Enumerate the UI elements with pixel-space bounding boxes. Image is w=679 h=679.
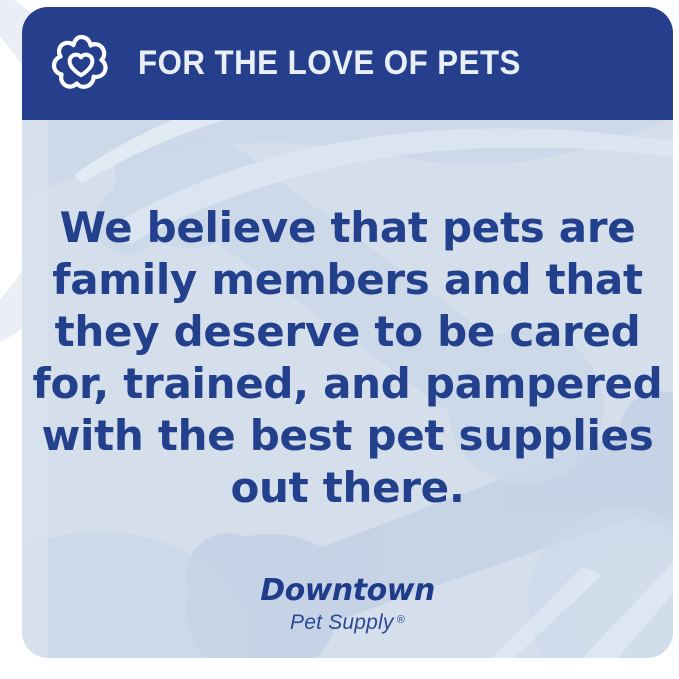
quote-text: We believe that pets are family members … bbox=[22, 202, 673, 514]
promo-card-canvas: FOR THE LOVE OF PETS We believe that pet… bbox=[0, 0, 679, 679]
header-title: FOR THE LOVE OF PETS bbox=[138, 44, 521, 83]
registered-trademark-icon: ® bbox=[397, 614, 405, 626]
card-header: FOR THE LOVE OF PETS bbox=[22, 7, 673, 120]
brand-name-secondary-text: Pet Supply bbox=[290, 611, 394, 634]
brand-name-secondary: Pet Supply® bbox=[22, 607, 673, 636]
paw-heart-icon bbox=[49, 32, 113, 96]
quote-line: with the best pet supplies bbox=[22, 410, 673, 462]
quote-line: for, trained, and pampered bbox=[22, 358, 673, 410]
quote-line: We believe that pets are bbox=[22, 202, 673, 254]
quote-line: family members and that bbox=[22, 254, 673, 306]
brand-logo: Downtown Pet Supply® bbox=[22, 575, 673, 636]
promo-card: FOR THE LOVE OF PETS We believe that pet… bbox=[22, 7, 673, 658]
quote-line: they deserve to be cared bbox=[22, 306, 673, 358]
brand-name-primary: Downtown bbox=[22, 575, 673, 607]
quote-line: out there. bbox=[22, 462, 673, 514]
